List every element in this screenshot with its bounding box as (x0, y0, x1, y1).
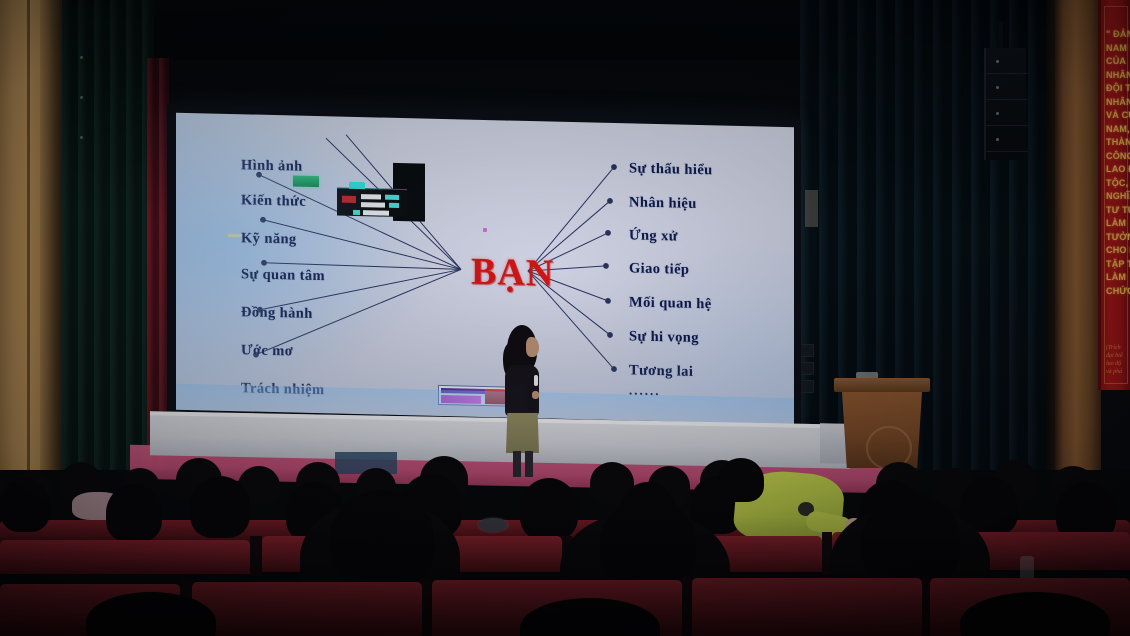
slide-right-item-6: Sự hi vọng (629, 328, 699, 347)
slide-right-item-3: Ứng xử (629, 227, 678, 245)
green-highlight-chip-icon (293, 175, 319, 187)
wood-pillar-right (1055, 0, 1101, 470)
slide-center-word: BẠN (471, 250, 554, 296)
camera-control-bar-overlay (337, 162, 425, 222)
slide-left-item-6: Ước mơ (241, 342, 293, 360)
audience-area (0, 432, 1130, 636)
slide-right-item-4: Giao tiếp (629, 260, 689, 278)
record-indicator-icon (342, 196, 356, 203)
seat-row (0, 540, 250, 574)
red-banner: " ĐẢNG NAM L CỦA NHÂN, ĐỘI TI NHÂN VÀ CỦ… (1098, 0, 1130, 390)
slide-left-item-1: Hình ảnh (241, 157, 303, 175)
seat-row (192, 582, 422, 636)
audience-head (106, 484, 162, 542)
slide-right-item-2: Nhân hiệu (629, 194, 697, 213)
audience-head (0, 478, 50, 532)
hair-clip (478, 518, 508, 532)
audience-head (862, 494, 960, 586)
stage-curtain-left (62, 0, 154, 470)
podium-top (834, 378, 930, 392)
pink-dot-marker-icon (483, 228, 487, 232)
wall-vent (800, 344, 814, 357)
hud-tab-icon (349, 182, 365, 189)
ceiling-light-dot (80, 56, 83, 59)
wall-plate (805, 190, 818, 227)
slide-left-item-3: Kỹ năng (241, 230, 297, 248)
ceiling-light-dot (80, 136, 83, 139)
wall-vent (800, 362, 814, 375)
audience-head (718, 458, 764, 502)
slide-left-item-2: Kiến thức (241, 192, 306, 211)
slide-left-item-4: Sự quan tâm (241, 266, 325, 285)
audience-head (190, 476, 250, 538)
wood-pillar-left (0, 0, 62, 470)
slide-right-item-7: Tương lai (629, 362, 693, 381)
presenter-hand (532, 391, 539, 399)
line-array-speaker (984, 48, 1026, 160)
yellow-highlight-dash-icon (228, 234, 242, 237)
banner-subtext: (Trích đại biể lao độ và phá (1106, 344, 1130, 376)
microphone-icon (534, 375, 538, 386)
banner-text: " ĐẢNG NAM L CỦA NHÂN, ĐỘI TI NHÂN VÀ CỦ… (1106, 28, 1130, 298)
ceiling-light-dot (80, 96, 83, 99)
slide-left-item-5: Đồng hành (241, 304, 313, 323)
audience-head (600, 498, 696, 586)
pillar-seam (27, 0, 30, 470)
slide-right-item-5: Mối quan hệ (629, 294, 712, 313)
wall-vent (800, 380, 814, 393)
conference-hall-scene: Hình ảnh Kiến thức Kỹ năng Sự quan tâm Đ… (0, 0, 1130, 636)
slide-right-item-1: Sự thấu hiểu (629, 160, 713, 179)
audience-head (330, 490, 434, 586)
audience-head (520, 478, 578, 540)
seat-row (692, 578, 922, 636)
presenter-face (526, 337, 539, 357)
red-curtain-strip (147, 58, 169, 470)
projection-screen: Hình ảnh Kiến thức Kỹ năng Sự quan tâm Đ… (176, 113, 794, 425)
